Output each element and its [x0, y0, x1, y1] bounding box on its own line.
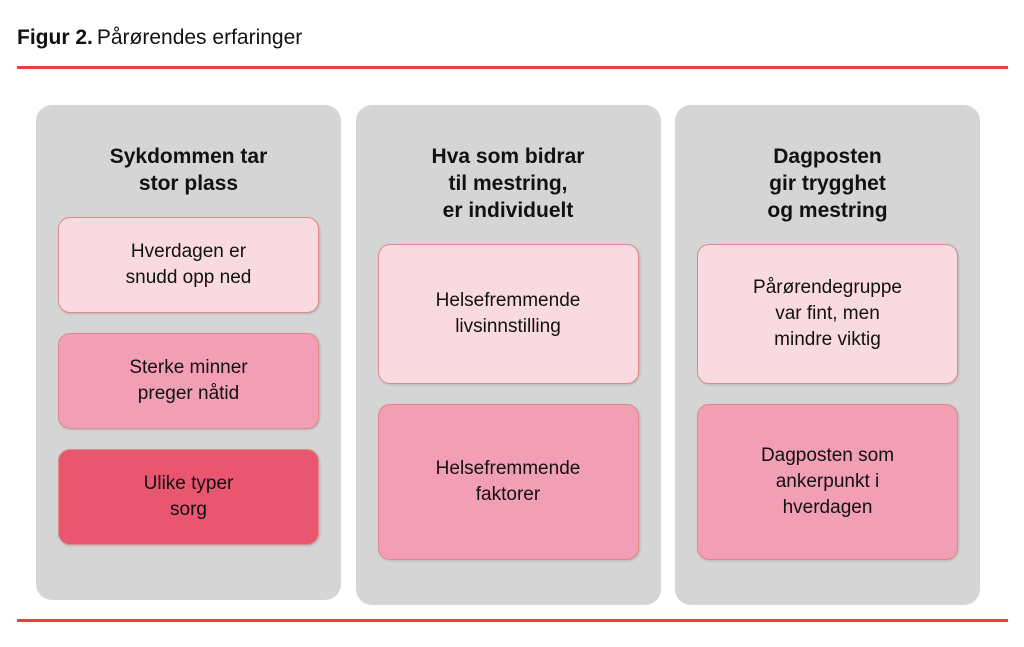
figure-caption: Pårørendes erfaringer [97, 26, 302, 49]
column-heading-2: Hva som bidrar til mestring, er individu… [378, 143, 639, 224]
card-1-2[interactable]: Sterke minner preger nåtid [58, 333, 319, 429]
card-2-2[interactable]: Helsefremmende faktorer [378, 404, 639, 560]
column-panel-1: Sykdommen tar stor plass Hverdagen er sn… [36, 105, 341, 600]
column-cards-2: Helsefremmende livsinnstilling Helsefrem… [378, 244, 639, 560]
card-1-3[interactable]: Ulike typer sorg [58, 449, 319, 545]
card-2-1[interactable]: Helsefremmende livsinnstilling [378, 244, 639, 384]
card-3-2[interactable]: Dagposten som ankerpunkt i hverdagen [697, 404, 958, 560]
column-heading-3: Dagposten gir trygghet og mestring [697, 143, 958, 224]
column-cards-1: Hverdagen er snudd opp ned Sterke minner… [58, 217, 319, 545]
column-cards-3: Pårørendegruppe var fint, men mindre vik… [697, 244, 958, 560]
card-1-1[interactable]: Hverdagen er snudd opp ned [58, 217, 319, 313]
column-heading-1: Sykdommen tar stor plass [58, 143, 319, 197]
figure-label: Figur 2. [17, 26, 93, 49]
column-panel-2: Hva som bidrar til mestring, er individu… [356, 105, 661, 605]
page-title: Figur 2.Pårørendes erfaringer [17, 24, 302, 52]
column-panel-3: Dagposten gir trygghet og mestring Pårør… [675, 105, 980, 605]
divider-bottom [17, 619, 1008, 622]
figure-page: { "figure": { "label": "Figur 2.", "capt… [0, 0, 1024, 647]
diagram-columns: Sykdommen tar stor plass Hverdagen er sn… [36, 105, 980, 605]
card-3-1[interactable]: Pårørendegruppe var fint, men mindre vik… [697, 244, 958, 384]
divider-top [17, 66, 1008, 69]
